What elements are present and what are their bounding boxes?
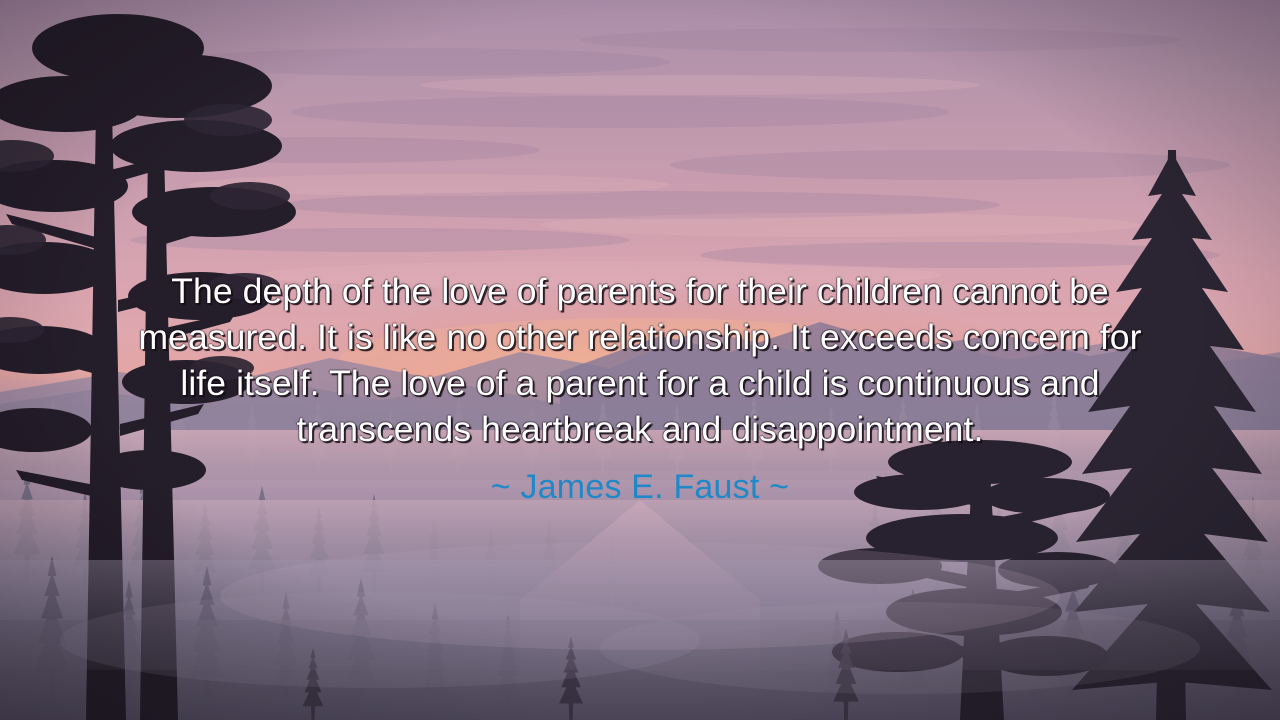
quote-attribution: ~ James E. Faust ~ (120, 466, 1160, 508)
quote-wallpaper: The depth of the love of parents for the… (0, 0, 1280, 720)
quote-block: The depth of the love of parents for the… (120, 268, 1160, 452)
quote-text: The depth of the love of parents for the… (120, 268, 1160, 452)
